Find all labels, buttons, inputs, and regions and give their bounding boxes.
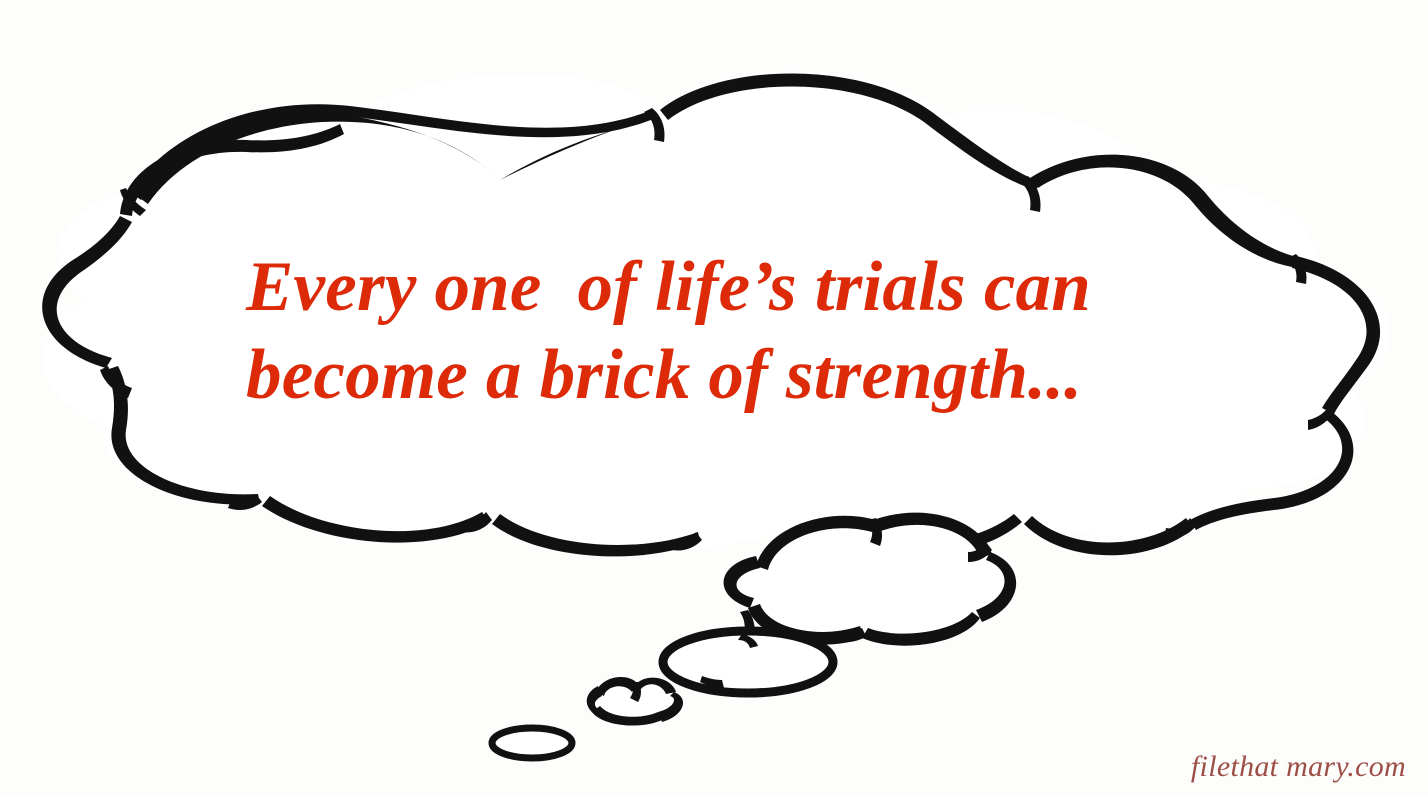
quote-line-1: Every one of life’s trials can xyxy=(246,243,1206,331)
quote-line-2: become a brick of strength... xyxy=(246,331,1206,419)
tail-bubble-3 xyxy=(587,677,683,726)
tail-bubble-4 xyxy=(492,728,572,758)
watermark-text: filethat mary.com xyxy=(1191,750,1406,784)
image-canvas: Every one of life’s trials can become a … xyxy=(0,0,1428,796)
tail-bubble-2 xyxy=(663,631,833,693)
quote-text-block: Every one of life’s trials can become a … xyxy=(246,243,1206,419)
